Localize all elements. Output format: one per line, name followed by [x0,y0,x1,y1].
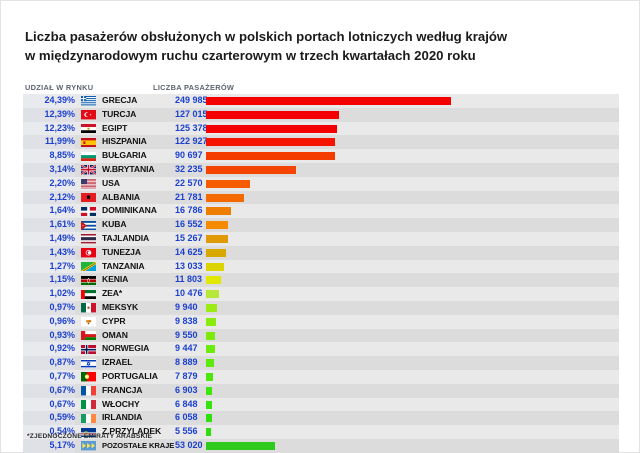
country-name: KENIA [102,273,128,287]
market-share-value: 2,12% [23,191,75,205]
country-name: CYPR [102,315,125,329]
market-share-value: 0,67% [23,398,75,412]
market-share-value: 5,17% [23,439,75,453]
flag-icon [81,414,96,423]
country-name: TURCJA [102,108,136,122]
country-name: TAJLANDIA [102,232,149,246]
title-line-1: Liczba pasażerów obsłużonych w polskich … [25,27,615,46]
country-name: USA [102,177,120,191]
value-bar [206,401,212,409]
country-name: WŁOCHY [102,398,140,412]
table-row: 5,17%POZOSTAŁE KRAJE53 020 [23,439,619,453]
table-row: 0,97%MEKSYK9 940 [23,301,619,315]
market-share-value: 0,77% [23,370,75,384]
passenger-count: 6 903 [175,384,221,398]
flag-icon [81,248,96,257]
country-name: KUBA [102,218,126,232]
table-row: 8,85%BUŁGARIA90 697 [23,149,619,163]
table-row: 0,93%OMAN9 550 [23,329,619,343]
table-row: 1,15%KENIA11 803 [23,273,619,287]
table-row: 1,02%ZEA*10 476 [23,287,619,301]
flag-icon [81,138,96,147]
column-header-share: UDZIAŁ W RYNKU [25,83,93,92]
value-bar [206,249,226,257]
value-bar [206,97,451,105]
country-name: PORTUGALIA [102,370,158,384]
flag-icon [81,372,96,381]
table-row: 0,67%WŁOCHY6 848 [23,398,619,412]
market-share-value: 0,93% [23,329,75,343]
value-bar [206,221,228,229]
country-name: OMAN [102,329,128,343]
country-name: BUŁGARIA [102,149,147,163]
market-share-value: 1,49% [23,232,75,246]
title-line-2: w międzynarodowym ruchu czarterowym w tr… [25,46,615,65]
value-bar [206,318,216,326]
page-title: Liczba pasażerów obsłużonych w polskich … [25,27,615,65]
flag-icon [81,345,96,354]
table-row: 12,39%TURCJA127 015 [23,108,619,122]
flag-icon [81,290,96,299]
market-share-value: 12,39% [23,108,75,122]
country-name: IRLANDIA [102,411,142,425]
country-name: HISZPANIA [102,135,147,149]
table-row: 0,77%PORTUGALIA7 879 [23,370,619,384]
passenger-count: 8 889 [175,356,221,370]
value-bar [206,180,250,188]
flag-icon [81,386,96,395]
table-row: 11,99%HISZPANIA122 927 [23,135,619,149]
value-bar [206,194,244,202]
country-name: ALBANIA [102,191,140,205]
flag-icon [81,152,96,161]
value-bar [206,332,215,340]
country-name: GRECJA [102,94,137,108]
value-bar [206,138,335,146]
passenger-count: 7 879 [175,370,221,384]
table-row: 0,87%IZRAEL8 889 [23,356,619,370]
footnote: *ZJEDNOCZONE EMIRATY ARABSKIE [27,433,152,440]
passenger-count: 6 848 [175,398,221,412]
flag-icon [81,207,96,216]
value-bar [206,235,228,243]
flag-icon [81,441,96,450]
table-row: 0,96%CYPR9 838 [23,315,619,329]
value-bar [206,263,224,271]
flag-icon [81,317,96,326]
country-name: DOMINIKANA [102,204,157,218]
flag-icon [81,359,96,368]
market-share-value: 0,59% [23,411,75,425]
flag-icon [81,262,96,271]
table-row: 0,67%FRANCJA6 903 [23,384,619,398]
market-share-value: 0,67% [23,384,75,398]
table-row: 2,20%USA22 570 [23,177,619,191]
flag-icon [81,221,96,230]
value-bar [206,111,339,119]
table-row: 1,49%TAJLANDIA15 267 [23,232,619,246]
flag-icon [81,96,96,105]
value-bar [206,207,231,215]
value-bar [206,345,215,353]
table-row: 0,59%IRLANDIA6 058 [23,411,619,425]
market-share-value: 0,92% [23,342,75,356]
market-share-value: 11,99% [23,135,75,149]
value-bar [206,442,275,450]
country-name: IZRAEL [102,356,132,370]
country-name: TANZANIA [102,260,144,274]
market-share-value: 1,15% [23,273,75,287]
flag-icon [81,303,96,312]
flag-icon [81,234,96,243]
flag-icon [81,331,96,340]
country-name: NORWEGIA [102,342,149,356]
value-bar [206,290,219,298]
value-bar [206,373,213,381]
flag-icon [81,276,96,285]
table-row: 1,43%TUNEZJA14 625 [23,246,619,260]
infographic-page: Liczba pasażerów obsłużonych w polskich … [0,0,640,453]
flag-icon [81,124,96,133]
market-share-value: 3,14% [23,163,75,177]
country-name: FRANCJA [102,384,142,398]
table-row: 1,61%KUBA16 552 [23,218,619,232]
country-name: MEKSYK [102,301,138,315]
country-name: POZOSTAŁE KRAJE [102,439,174,453]
market-share-value: 12,23% [23,122,75,136]
market-share-value: 8,85% [23,149,75,163]
market-share-value: 24,39% [23,94,75,108]
table-row: 12,23%EGIPT125 378 [23,122,619,136]
value-bar [206,125,337,133]
flag-icon [81,193,96,202]
flag-icon [81,165,96,174]
chart-plate: 24,39%GRECJA249 98512,39%TURCJA127 01512… [23,94,619,427]
country-name: ZEA* [102,287,122,301]
market-share-value: 0,97% [23,301,75,315]
value-bar [206,304,217,312]
column-header-passengers: LICZBA PASAŻERÓW [153,83,234,92]
flag-icon [81,400,96,409]
value-bar [206,414,212,422]
market-share-value: 0,87% [23,356,75,370]
table-row: 1,64%DOMINIKANA16 786 [23,204,619,218]
market-share-value: 0,96% [23,315,75,329]
table-row: 24,39%GRECJA249 985 [23,94,619,108]
value-bar [206,152,335,160]
market-share-value: 1,02% [23,287,75,301]
market-share-value: 1,27% [23,260,75,274]
table-row: 1,27%TANZANIA13 033 [23,260,619,274]
flag-icon [81,110,96,119]
table-row: 0,92%NORWEGIA9 447 [23,342,619,356]
value-bar [206,166,296,174]
passenger-count: 6 058 [175,411,221,425]
market-share-value: 1,43% [23,246,75,260]
table-row: 3,14%W.BRYTANIA32 235 [23,163,619,177]
table-row: 2,12%ALBANIA21 781 [23,191,619,205]
flag-icon [81,179,96,188]
value-bar [206,387,212,395]
value-bar [206,428,211,436]
country-name: W.BRYTANIA [102,163,154,177]
market-share-value: 2,20% [23,177,75,191]
country-name: EGIPT [102,122,127,136]
value-bar [206,359,214,367]
market-share-value: 1,64% [23,204,75,218]
value-bar [206,276,221,284]
market-share-value: 1,61% [23,218,75,232]
passenger-count: 5 556 [175,425,221,439]
country-name: TUNEZJA [102,246,141,260]
